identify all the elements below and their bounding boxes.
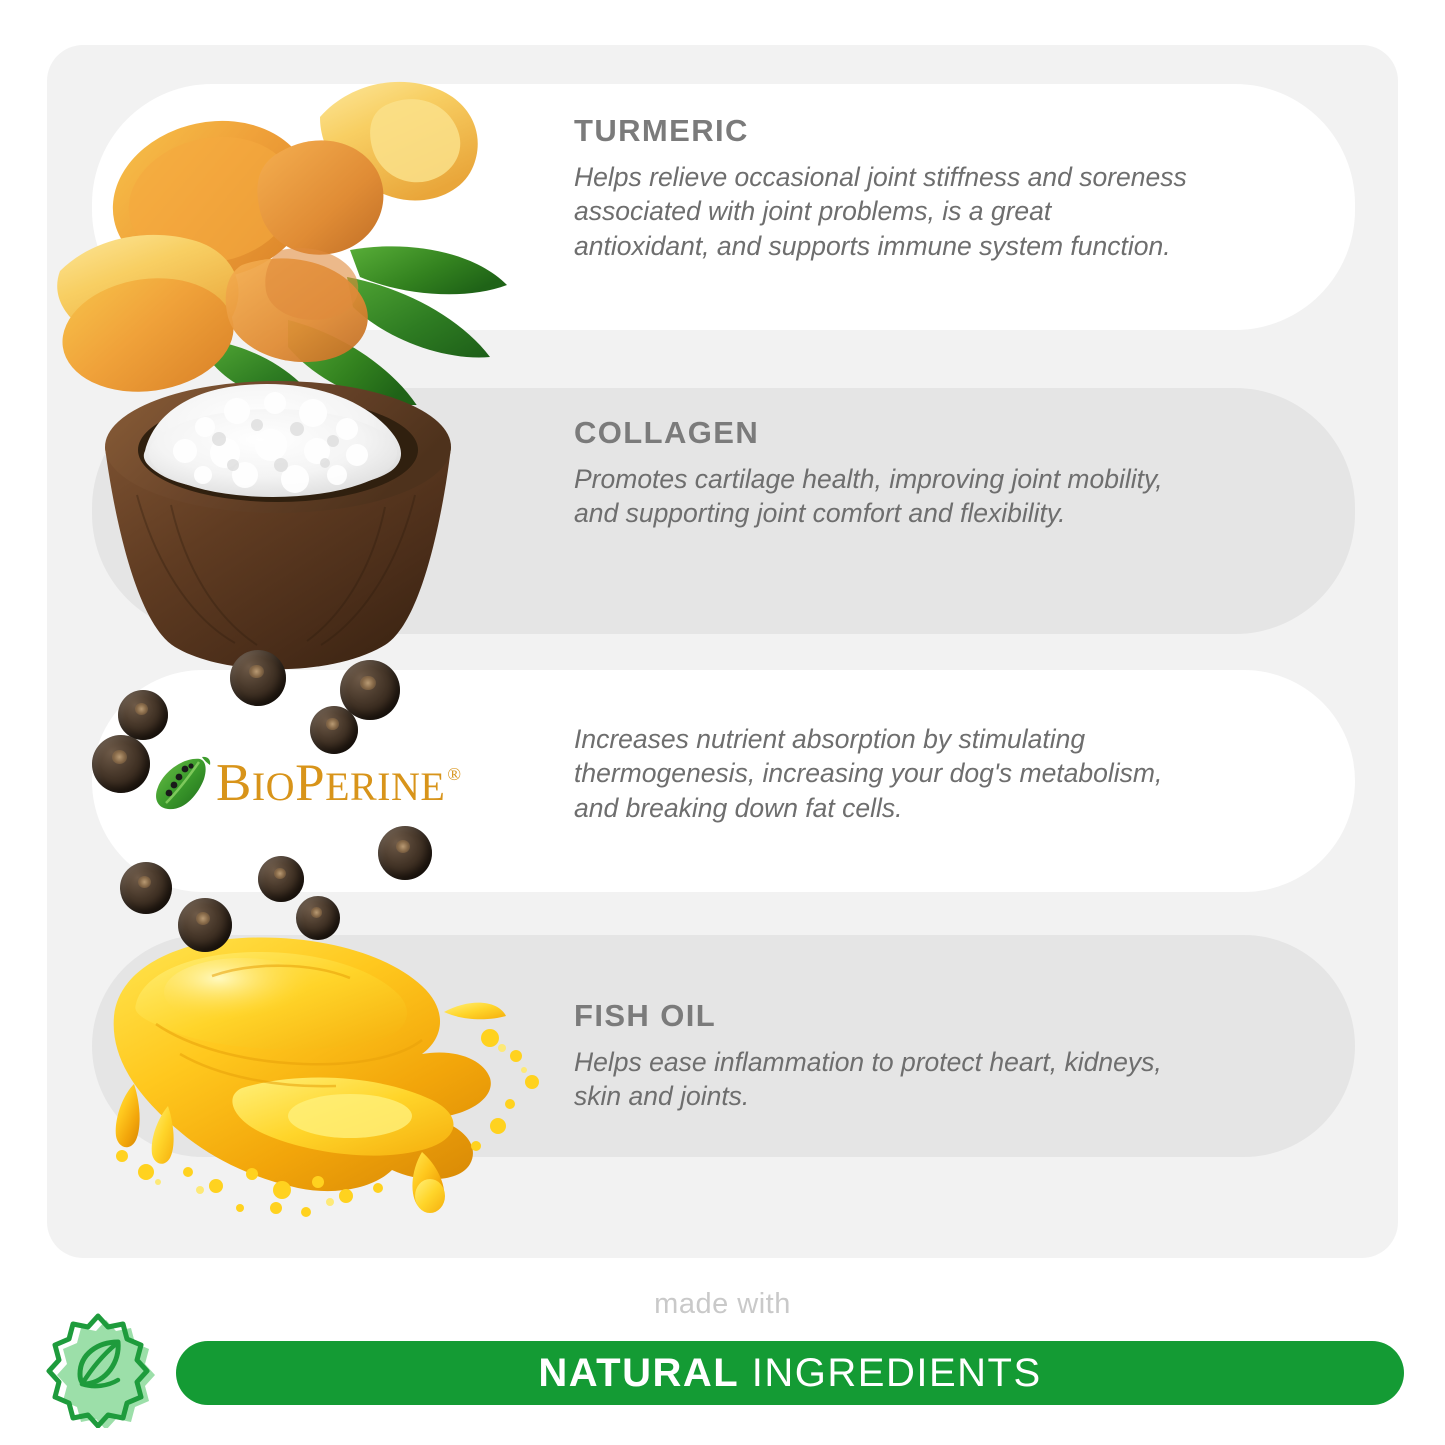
- banner-bold-word: NATURAL: [538, 1351, 739, 1395]
- bioperine-erine: ERINE: [325, 767, 445, 807]
- natural-ingredients-banner: NATURAL INGREDIENTS: [176, 1341, 1404, 1405]
- registered-mark-icon: ®: [447, 765, 461, 783]
- ingredient-description: Increases nutrient absorption by stimula…: [574, 722, 1204, 825]
- ingredient-description: Promotes cartilage health, improving joi…: [574, 462, 1194, 531]
- peppercorn-icon: [258, 856, 304, 902]
- peppercorn-icon: [92, 735, 150, 793]
- ingredient-description: Helps ease inflammation to protect heart…: [574, 1045, 1174, 1114]
- ingredient-title: COLLAGEN: [574, 415, 1194, 451]
- banner-text: NATURAL INGREDIENTS: [538, 1351, 1041, 1396]
- ingredient-title: FISH OIL: [574, 998, 1174, 1034]
- peppercorn-icon: [378, 826, 432, 880]
- bioperine-letter-p: P: [295, 757, 325, 810]
- peppercorn-icon: [296, 896, 340, 940]
- peppercorn-icon: [178, 898, 232, 952]
- peppercorn-icon: [230, 650, 286, 706]
- pepper-pod-icon: [150, 753, 212, 813]
- peppercorn-icon: [310, 706, 358, 754]
- ingredient-text-turmeric: TURMERIC Helps relieve occasional joint …: [574, 113, 1194, 263]
- bioperine-wordmark: BIOPERINE®: [216, 757, 462, 810]
- bioperine-io: IO: [252, 767, 295, 807]
- peppercorn-icon: [120, 862, 172, 914]
- bioperine-letter-b: B: [216, 757, 252, 810]
- ingredient-description: Helps relieve occasional joint stiffness…: [574, 160, 1194, 263]
- ingredient-text-collagen: COLLAGEN Promotes cartilage health, impr…: [574, 415, 1194, 531]
- peppercorn-icon: [118, 690, 168, 740]
- made-with-label: made with: [0, 1288, 1445, 1321]
- banner-light-word: INGREDIENTS: [739, 1351, 1041, 1395]
- ingredient-text-bioperine: Increases nutrient absorption by stimula…: [574, 722, 1204, 825]
- bioperine-logo: BIOPERINE®: [150, 752, 462, 814]
- ingredient-text-fish-oil: FISH OIL Helps ease inflammation to prot…: [574, 998, 1174, 1114]
- ingredient-title: TURMERIC: [574, 113, 1194, 149]
- leaf-badge-icon: [44, 1312, 160, 1428]
